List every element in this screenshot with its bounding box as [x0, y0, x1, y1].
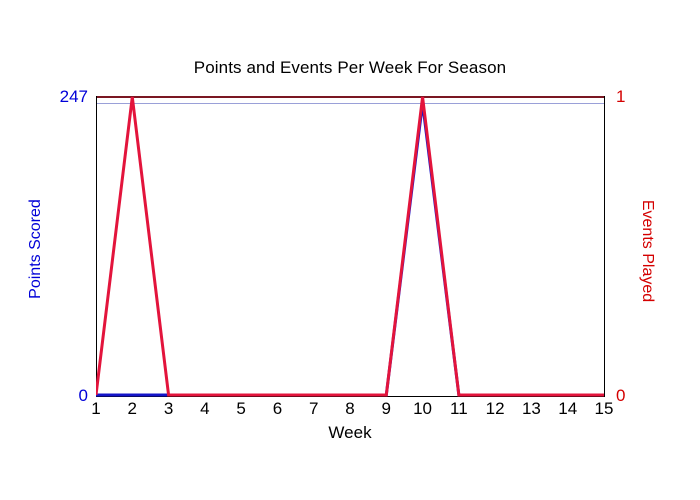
x-axis-tick-15: 15 — [595, 399, 614, 419]
chart-title: Points and Events Per Week For Season — [0, 58, 700, 78]
x-axis-tick-9: 9 — [382, 399, 391, 419]
plot-area — [96, 96, 605, 397]
series-line-events-played — [96, 97, 604, 395]
x-axis-tick-1: 1 — [91, 399, 100, 419]
y-axis-right-tick-min: 0 — [616, 386, 656, 406]
y-axis-left-tick-max: 247 — [20, 87, 88, 107]
x-axis-tick-10: 10 — [413, 399, 432, 419]
x-axis-tick-11: 11 — [450, 399, 468, 419]
x-axis-tick-8: 8 — [345, 399, 354, 419]
x-axis-tick-7: 7 — [309, 399, 318, 419]
y-axis-left-title: Points Scored — [27, 169, 45, 329]
x-axis-tick-13: 13 — [522, 399, 541, 419]
x-axis-tick-3: 3 — [164, 399, 173, 419]
series-layer — [96, 96, 605, 397]
x-axis-tick-14: 14 — [558, 399, 577, 419]
chart-canvas: Points and Events Per Week For Season 24… — [0, 0, 700, 500]
series-line-points-scored — [96, 103, 604, 395]
x-axis-tick-12: 12 — [486, 399, 505, 419]
x-axis-tick-4: 4 — [200, 399, 209, 419]
x-axis-tick-6: 6 — [273, 399, 282, 419]
y-axis-right-tick-max: 1 — [616, 87, 656, 107]
x-axis-tick-5: 5 — [236, 399, 245, 419]
x-axis-tick-labels: 123456789101112131415 — [96, 399, 605, 423]
y-axis-left-tick-min: 0 — [20, 386, 88, 406]
y-axis-right-title: Events Played — [638, 166, 656, 336]
x-axis-title: Week — [0, 423, 700, 443]
x-axis-tick-2: 2 — [128, 399, 137, 419]
